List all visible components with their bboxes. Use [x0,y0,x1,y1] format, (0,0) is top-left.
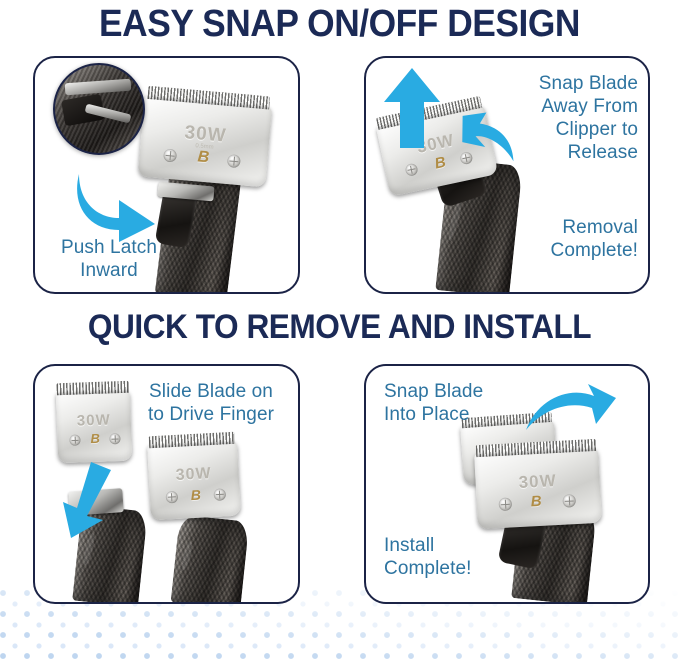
clipper-blade-attached: 30W B [147,440,241,521]
panel-snap-blade-away: 30W B Snap Blade Away From Clipper to Re… [364,56,650,294]
clipper-blade-attached: 30W B [474,447,602,529]
arrow-up-icon [384,68,440,148]
brand-logo-b: B [530,493,542,511]
brand-logo-b: B [190,487,201,504]
arrow-down-left-icon [57,462,113,538]
caption-removal-complete: Removal Complete! [486,216,638,262]
caption-snap-into-place: Snap Blade Into Place [384,380,544,426]
panel-push-latch: 30W 0.5mm B Push Latch Inward [33,56,300,294]
panel-slide-blade: 30W B 30W B Slide Blade on to Drive Fing… [33,364,300,604]
infographic-stage: EASY SNAP ON/OFF DESIGN 30W 0.5mm B [0,0,679,662]
caption-slide-blade: Slide Blade on to Drive Finger [131,380,291,426]
latch-closeup-inset [53,63,145,155]
page-title-main: EASY SNAP ON/OFF DESIGN [24,2,655,46]
brand-logo-b: B [90,431,100,446]
caption-install-complete: Install Complete! [384,534,544,580]
clipper-body [171,515,250,604]
caption-snap-blade-away: Snap Blade Away From Clipper to Release [486,72,638,164]
blade-engraving-text: 30W [57,411,132,431]
brand-logo-b: B [197,148,210,167]
curved-arrow-right-down-icon [67,168,159,242]
page-title-second: QUICK TO REMOVE AND INSTALL [24,307,655,347]
panel-snap-into-place: 30W B Snap Blade Into Place Install Comp… [364,364,650,604]
caption-push-latch: Push Latch Inward [43,236,175,282]
inset-blade-bar [65,79,132,96]
clipper-blade-detached: 30W B [56,389,132,464]
